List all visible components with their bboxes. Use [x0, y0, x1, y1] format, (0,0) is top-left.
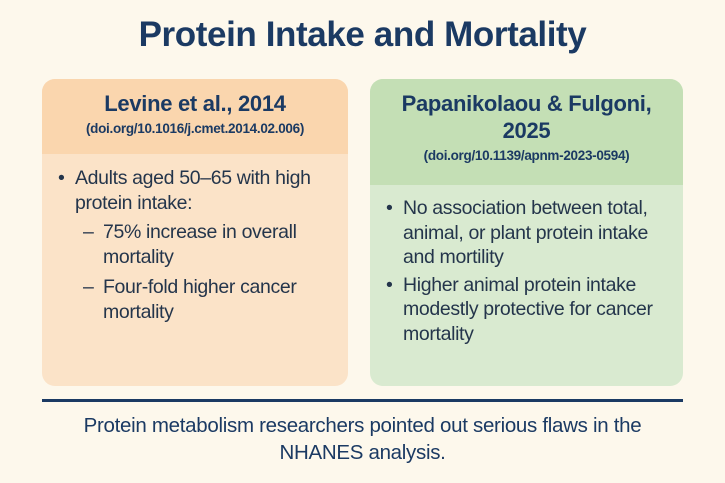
study-title-papanikolaou: Papanikolaou & Fulgoni, 2025 [380, 90, 673, 144]
bullet-dot-icon: • [58, 166, 64, 191]
panel-header-papanikolaou: Papanikolaou & Fulgoni, 2025 (doi.org/10… [370, 79, 683, 185]
panel-body-levine: • Adults aged 50–65 with high protein in… [42, 154, 348, 386]
sub-bullet-text: Four-fold higher cancer mortality [103, 276, 297, 323]
panel-body-papanikolaou: • No association between total, animal, … [370, 185, 683, 386]
footer-note: Protein metabolism researchers pointed o… [42, 412, 683, 466]
infographic-canvas: Protein Intake and Mortality Levine et a… [0, 0, 725, 483]
dash-icon: – [83, 275, 94, 300]
bullet-text: No association between total, animal, or… [403, 197, 648, 268]
study-panel-papanikolaou: Papanikolaou & Fulgoni, 2025 (doi.org/10… [370, 79, 683, 386]
study-doi-levine: (doi.org/10.1016/j.cmet.2014.02.006) [52, 120, 338, 138]
bullet-dot-icon: • [386, 196, 392, 221]
bullet-text: Adults aged 50–65 with high protein inta… [75, 167, 311, 214]
study-doi-papanikolaou: (doi.org/10.1139/apnm-2023-0594) [380, 147, 673, 165]
sub-bullet-text: 75% increase in overall mortality [103, 221, 297, 268]
list-item: – 75% increase in overall mortality [83, 220, 334, 269]
list-item: • No association between total, animal, … [384, 196, 669, 270]
list-item: • Adults aged 50–65 with high protein in… [56, 166, 334, 324]
sub-bullet-list-levine: – 75% increase in overall mortality – Fo… [75, 220, 334, 324]
panel-header-levine: Levine et al., 2014 (doi.org/10.1016/j.c… [42, 79, 348, 154]
bullet-list-papanikolaou: • No association between total, animal, … [384, 196, 669, 346]
bullet-dot-icon: • [386, 273, 392, 298]
bullet-list-levine: • Adults aged 50–65 with high protein in… [56, 166, 334, 324]
study-title-levine: Levine et al., 2014 [52, 90, 338, 117]
bullet-text: Higher animal protein intake modestly pr… [403, 274, 653, 345]
list-item: – Four-fold higher cancer mortality [83, 275, 334, 324]
page-title: Protein Intake and Mortality [0, 14, 725, 56]
dash-icon: – [83, 220, 94, 245]
footer-divider [42, 399, 683, 402]
list-item: • Higher animal protein intake modestly … [384, 273, 669, 347]
study-panel-levine: Levine et al., 2014 (doi.org/10.1016/j.c… [42, 79, 348, 386]
